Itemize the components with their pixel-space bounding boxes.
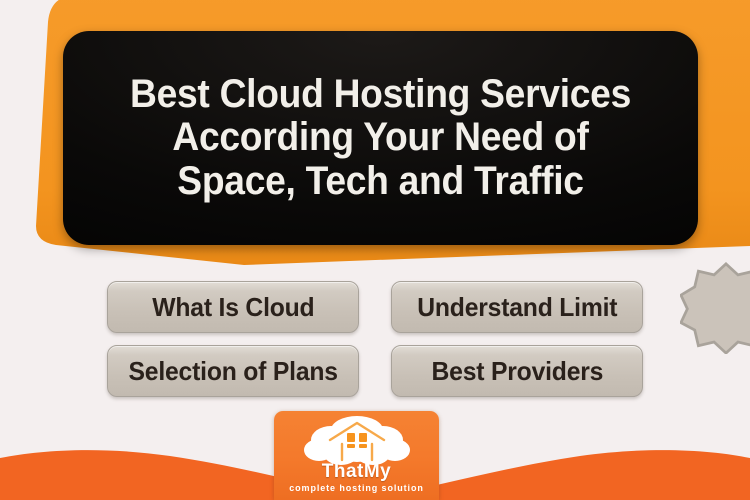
- nav-button-selection-of-plans[interactable]: Selection of Plans: [107, 345, 359, 397]
- page-title: Best Cloud Hosting Services According Yo…: [85, 73, 676, 203]
- infographic-canvas: Best Cloud Hosting Services According Yo…: [0, 0, 750, 500]
- brand-logo[interactable]: ThatMy complete hosting solution: [274, 411, 439, 500]
- title-plate: Best Cloud Hosting Services According Yo…: [63, 31, 698, 245]
- nav-button-label: Selection of Plans: [128, 356, 337, 387]
- title-line-3: Space, Tech and Traffic: [95, 160, 667, 203]
- nav-button-label: What Is Cloud: [152, 292, 314, 323]
- nav-button-grid: What Is Cloud Understand Limit Selection…: [0, 281, 750, 409]
- nav-button-label: Best Providers: [431, 356, 603, 387]
- title-line-2: According Your Need of: [95, 116, 667, 159]
- nav-button-understand-limit[interactable]: Understand Limit: [391, 281, 643, 333]
- nav-button-what-is-cloud[interactable]: What Is Cloud: [107, 281, 359, 333]
- brand-name: ThatMy: [274, 461, 439, 483]
- cloud-house-icon: [297, 414, 417, 466]
- nav-button-row-1: What Is Cloud Understand Limit: [0, 281, 750, 333]
- title-line-1: Best Cloud Hosting Services: [95, 73, 667, 116]
- brand-tagline: complete hosting solution: [274, 483, 439, 493]
- nav-button-label: Understand Limit: [417, 292, 617, 323]
- nav-button-best-providers[interactable]: Best Providers: [391, 345, 643, 397]
- nav-button-row-2: Selection of Plans Best Providers: [0, 345, 750, 397]
